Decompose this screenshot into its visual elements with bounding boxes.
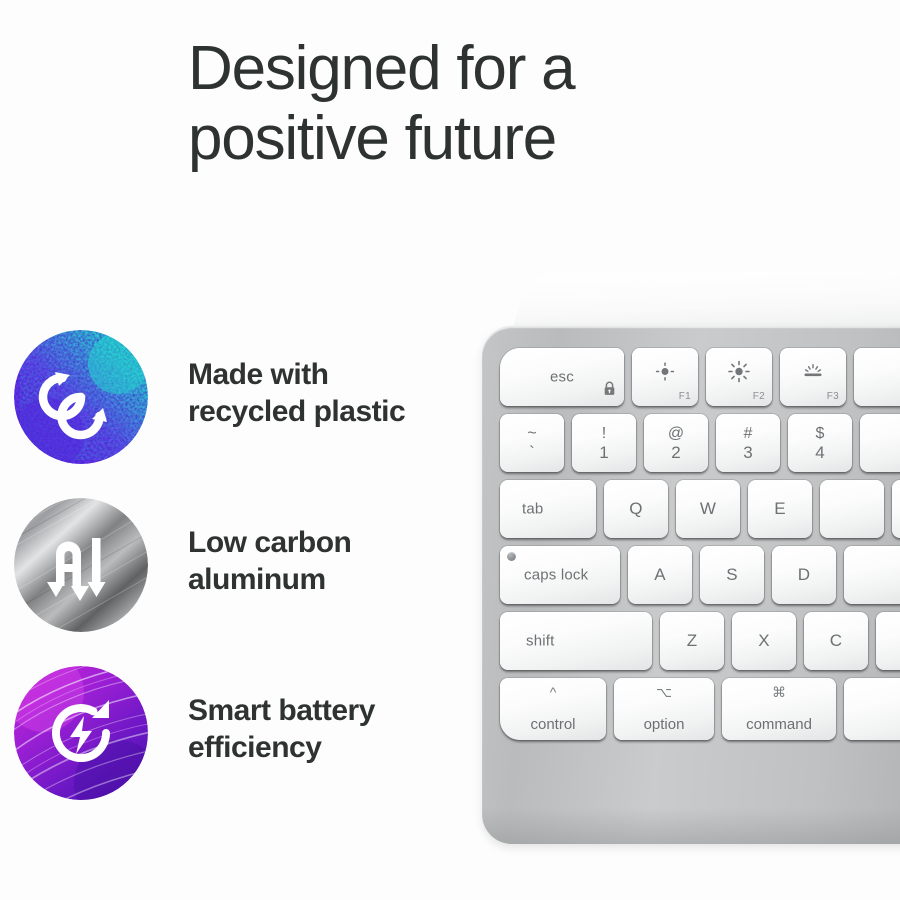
key-a-label: A (628, 565, 692, 585)
key-tilde-upper: ~ (500, 425, 564, 443)
feature-item-recycled-plastic: Made with recycled plastic (14, 330, 474, 470)
feature-item-smart-battery-efficiency: Smart battery efficiency (14, 666, 474, 806)
key-s-label: S (700, 565, 764, 585)
key-2-upper: @ (644, 425, 708, 443)
key-control[interactable]: ^ control (500, 678, 606, 740)
key-1[interactable]: ! 1 (572, 414, 636, 472)
key-c[interactable]: C (804, 612, 868, 670)
key-f[interactable] (844, 546, 900, 604)
key-q[interactable]: Q (604, 480, 668, 538)
recycle-loop-icon (14, 330, 148, 464)
key-1-lower: 1 (572, 443, 636, 463)
key-2[interactable]: @ 2 (644, 414, 708, 472)
key-f1-label: F1 (679, 391, 691, 402)
key-tab-label: tab (522, 501, 543, 518)
command-icon: ⌘ (722, 684, 836, 701)
key-option-label: option (614, 716, 714, 733)
key-4-lower: 4 (788, 443, 852, 463)
key-tilde[interactable]: ~ ` (500, 414, 564, 472)
feature-label-smart-battery-efficiency: Smart battery efficiency (188, 692, 478, 766)
key-shift[interactable]: shift (500, 612, 652, 670)
key-c-label: C (804, 631, 868, 651)
key-d-label: D (772, 565, 836, 585)
key-4[interactable]: $ 4 (788, 414, 852, 472)
key-f4[interactable] (854, 348, 900, 406)
page-title: Designed for a positive future (188, 34, 748, 174)
key-option[interactable]: ⌥ option (614, 678, 714, 740)
key-shift-label: shift (526, 633, 555, 650)
key-w[interactable]: W (676, 480, 740, 538)
key-3-upper: # (716, 425, 780, 443)
key-x-label: X (732, 631, 796, 651)
feature-label-low-carbon-aluminum: Low carbon aluminum (188, 524, 478, 598)
key-z[interactable]: Z (660, 612, 724, 670)
key-v[interactable] (876, 612, 900, 670)
key-f1[interactable]: F1 (632, 348, 698, 406)
key-esc[interactable]: esc (500, 348, 624, 406)
feature-label-line-1: Smart battery (188, 692, 478, 729)
feature-label-line-1: Low carbon (188, 524, 478, 561)
key-x[interactable]: X (732, 612, 796, 670)
control-caret-icon: ^ (500, 684, 606, 700)
key-command[interactable]: ⌘ command (722, 678, 836, 740)
key-space[interactable] (844, 678, 900, 740)
feature-label-line-2: efficiency (188, 729, 478, 766)
key-d[interactable]: D (772, 546, 836, 604)
feature-item-low-carbon-aluminum: Low carbon aluminum (14, 498, 474, 638)
key-a[interactable]: A (628, 546, 692, 604)
brightness-down-icon (655, 361, 675, 386)
key-e[interactable]: E (748, 480, 812, 538)
keyboard-keys: esc (482, 326, 900, 844)
caps-lock-led (507, 552, 516, 561)
key-r[interactable] (820, 480, 884, 538)
key-w-label: W (676, 499, 740, 519)
key-2-lower: 2 (644, 443, 708, 463)
key-1-upper: ! (572, 425, 636, 443)
feature-label-line-2: recycled plastic (188, 393, 478, 430)
headline-line-1: Designed for a (188, 34, 748, 104)
mx-keys-keyboard: esc (476, 272, 900, 862)
keyboard-chassis: esc (482, 326, 900, 844)
feature-label-line-1: Made with (188, 356, 478, 393)
marketing-image: Designed for a positive future (0, 0, 900, 900)
feature-label-recycled-plastic: Made with recycled plastic (188, 356, 478, 430)
key-f2-label: F2 (753, 391, 765, 402)
feature-label-line-2: aluminum (188, 561, 478, 598)
key-f3-label: F3 (827, 391, 839, 402)
key-z-label: Z (660, 631, 724, 651)
key-3[interactable]: # 3 (716, 414, 780, 472)
keyboard-backlight-icon (801, 362, 825, 385)
key-s[interactable]: S (700, 546, 764, 604)
lock-icon (603, 381, 616, 401)
key-caps-lock[interactable]: caps lock (500, 546, 620, 604)
key-tab[interactable]: tab (500, 480, 596, 538)
keyboard-top-surface (511, 272, 900, 334)
aluminum-down-arrows-icon (14, 498, 148, 632)
brightness-up-icon (728, 360, 750, 387)
key-3-lower: 3 (716, 443, 780, 463)
key-caps-lock-label: caps lock (524, 567, 588, 584)
option-icon: ⌥ (614, 684, 714, 701)
key-f2[interactable]: F2 (706, 348, 772, 406)
key-t[interactable] (892, 480, 900, 538)
key-control-label: control (500, 716, 606, 733)
key-4-upper: $ (788, 425, 852, 443)
key-e-label: E (748, 499, 812, 519)
battery-refresh-bolt-icon (14, 666, 148, 800)
key-tilde-lower: ` (500, 443, 564, 463)
headline-line-2: positive future (188, 104, 748, 174)
key-command-label: command (722, 716, 836, 733)
key-f3[interactable]: F3 (780, 348, 846, 406)
key-q-label: Q (604, 499, 668, 519)
key-5[interactable] (860, 414, 900, 472)
